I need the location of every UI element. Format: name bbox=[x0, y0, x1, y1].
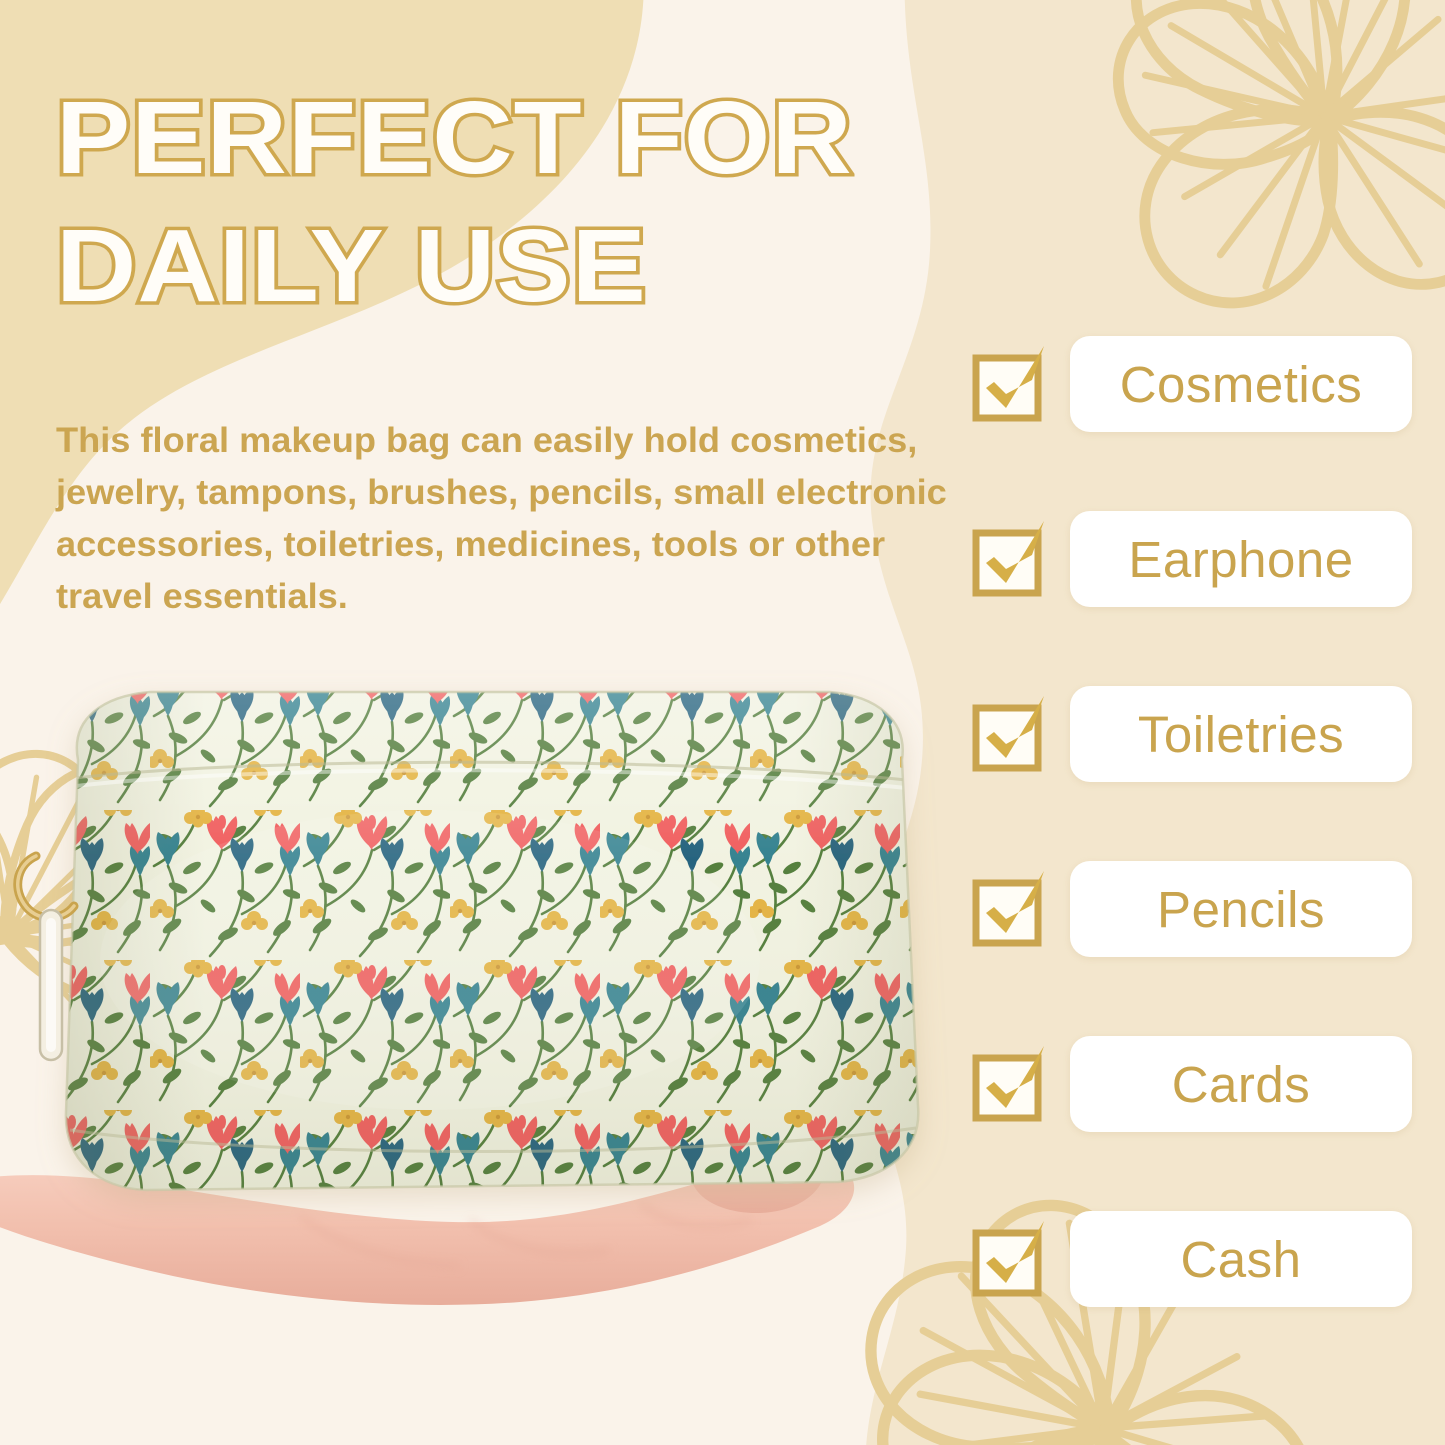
makeup-bag-illustration bbox=[0, 660, 960, 1445]
checklist-pill[interactable]: Cosmetics bbox=[1070, 336, 1412, 432]
product-feature-poster: PERFECT FOR DAILY USE This floral makeup… bbox=[0, 0, 1445, 1445]
checklist-item-label: Pencils bbox=[1157, 884, 1325, 935]
page-title: PERFECT FOR DAILY USE bbox=[56, 74, 976, 330]
checklist-item-cash[interactable]: Cash bbox=[972, 1211, 1412, 1307]
checklist-pill[interactable]: Earphone bbox=[1070, 511, 1412, 607]
product-image bbox=[0, 660, 960, 1445]
checklist-item-cosmetics[interactable]: Cosmetics bbox=[972, 336, 1412, 432]
description-paragraph: This floral makeup bag can easily hold c… bbox=[56, 414, 974, 622]
checklist-item-label: Cash bbox=[1180, 1234, 1301, 1285]
zipper-pull bbox=[18, 856, 74, 1060]
checkbox-checked-icon[interactable] bbox=[972, 871, 1048, 947]
flower-top-right-icon bbox=[1089, 0, 1445, 338]
checklist-item-toiletries[interactable]: Toiletries bbox=[972, 686, 1412, 782]
headline-line-2: DAILY USE bbox=[56, 202, 1050, 330]
checklist-item-earphone[interactable]: Earphone bbox=[972, 511, 1412, 607]
checkbox-checked-icon[interactable] bbox=[972, 696, 1048, 772]
checklist-item-label: Earphone bbox=[1128, 534, 1353, 585]
checklist-item-label: Cards bbox=[1172, 1059, 1311, 1110]
checklist-item-pencils[interactable]: Pencils bbox=[972, 861, 1412, 957]
checklist-pill[interactable]: Cards bbox=[1070, 1036, 1412, 1132]
makeup-bag bbox=[40, 670, 960, 1210]
checkbox-checked-icon[interactable] bbox=[972, 521, 1048, 597]
checkbox-checked-icon[interactable] bbox=[972, 346, 1048, 422]
headline-line-1: PERFECT FOR bbox=[56, 74, 1050, 202]
checklist-pill[interactable]: Pencils bbox=[1070, 861, 1412, 957]
checklist-pill[interactable]: Toiletries bbox=[1070, 686, 1412, 782]
checkbox-checked-icon[interactable] bbox=[972, 1221, 1048, 1297]
checklist-item-label: Cosmetics bbox=[1120, 359, 1363, 410]
checklist-item-cards[interactable]: Cards bbox=[972, 1036, 1412, 1132]
feature-checklist: Cosmetics Earphone Toiletr bbox=[972, 336, 1412, 1307]
checklist-pill[interactable]: Cash bbox=[1070, 1211, 1412, 1307]
checklist-item-label: Toiletries bbox=[1138, 709, 1344, 760]
checkbox-checked-icon[interactable] bbox=[972, 1046, 1048, 1122]
